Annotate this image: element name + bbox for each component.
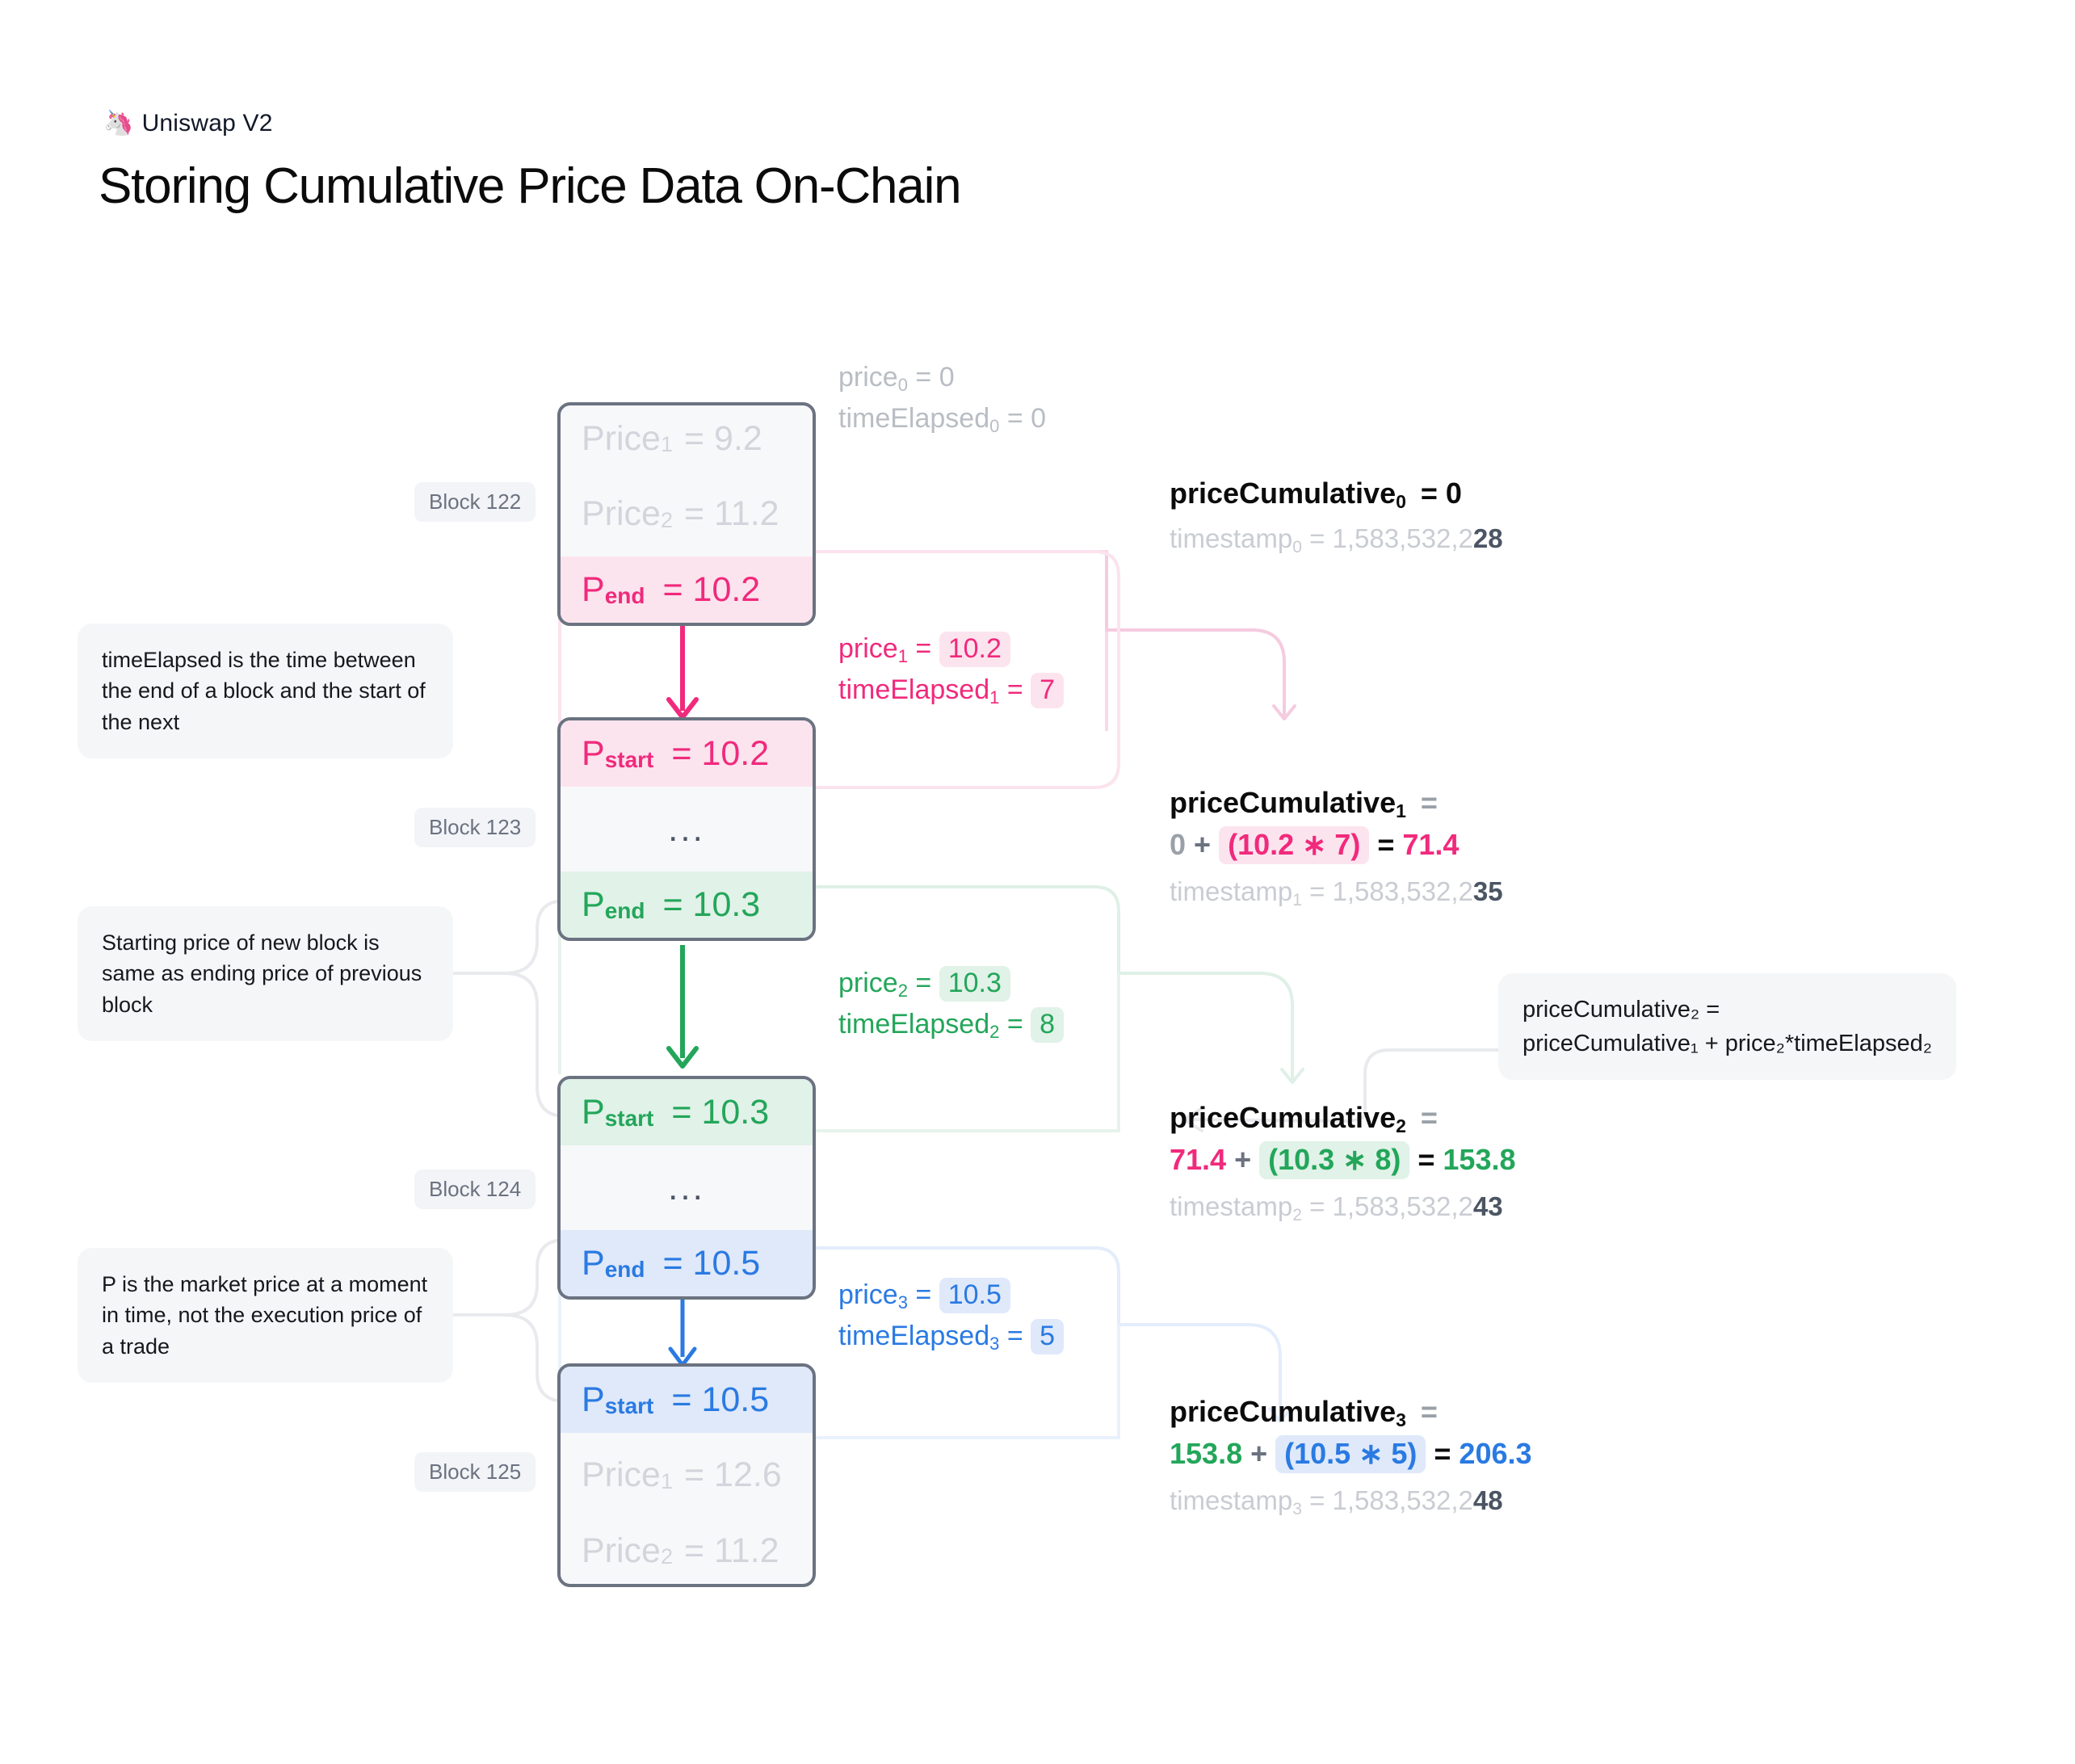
bracket-note3-top — [453, 1240, 565, 1315]
cum2-result: 153.8 — [1443, 1143, 1515, 1176]
block-row-p-start: Pstart = 10.2 — [561, 720, 813, 787]
interval-0: price0 = 0 timeElapsed0 = 0 — [838, 357, 1046, 439]
ellipsis-icon: ... — [668, 1181, 705, 1195]
block-row-p-end: Pend = 10.2 — [561, 556, 813, 623]
block-row: Price2 = 11.2 — [561, 481, 813, 548]
interval-2-time-value: 8 — [1031, 1007, 1064, 1043]
block-label-123: Block 123 — [414, 808, 536, 847]
block-row-p-start: Pstart = 10.5 — [561, 1367, 813, 1433]
interval-3-price-value: 10.5 — [939, 1278, 1010, 1313]
interval-2-price-value: 10.3 — [939, 966, 1010, 1002]
block-card-125[interactable]: Pstart = 10.5 Price1 = 12.6 Price2 = 11.… — [557, 1363, 816, 1587]
interval-1: price1 = 10.2 timeElapsed1 = 7 — [838, 628, 1064, 711]
block-row-p-end: Pend = 10.3 — [561, 871, 813, 938]
connector-layer — [0, 0, 2075, 1764]
diagram-canvas: 🦄 Uniswap V2 Storing Cumulative Price Da… — [0, 0, 2075, 1764]
block-row-p-end: Pend = 10.5 — [561, 1230, 813, 1296]
cum3-prev: 153.8 — [1170, 1437, 1242, 1470]
block-label-122: Block 122 — [414, 482, 536, 522]
bracket-note3-bottom — [453, 1315, 565, 1401]
cum2-prev: 71.4 — [1170, 1143, 1226, 1176]
cum2-expr: (10.3 ∗ 8) — [1259, 1141, 1409, 1179]
interval-1-price-value: 10.2 — [939, 632, 1010, 667]
block-label-125: Block 125 — [414, 1452, 536, 1492]
cum1-prev: 0 — [1170, 828, 1186, 861]
interval-3-time-value: 5 — [1031, 1319, 1064, 1354]
bracket-note2-bottom — [453, 973, 565, 1116]
note-market-price: P is the market price at a moment in tim… — [78, 1248, 453, 1383]
interval-3: price3 = 10.5 timeElapsed3 = 5 — [838, 1275, 1064, 1357]
cum1-expr: (10.2 ∗ 7) — [1219, 826, 1369, 864]
ellipsis-icon: ... — [668, 822, 705, 837]
formula-note-line2: priceCumulative₁ + price₂*timeElapsed₂ — [1523, 1027, 1932, 1060]
timestamp-2: timestamp2 = 1,583,532,243 — [1170, 1182, 1516, 1231]
interval-1-time-value: 7 — [1031, 673, 1064, 708]
block-row: Price2 = 11.2 — [561, 1518, 813, 1584]
block-row-ellipsis: ... — [561, 1155, 813, 1221]
block-row: Price1 = 12.6 — [561, 1443, 813, 1509]
cum3-expr: (10.5 ∗ 5) — [1275, 1435, 1426, 1473]
cumulative-3: priceCumulative3 = 153.8 + (10.5 ∗ 5) = … — [1170, 1391, 1532, 1525]
wire-pink-to-cum1 — [1107, 552, 1284, 719]
timestamp-0: timestamp0 = 1,583,532,228 — [1170, 514, 1503, 563]
cumulative-2: priceCumulative2 = 71.4 + (10.3 ∗ 8) = 1… — [1170, 1097, 1516, 1231]
block-row: Price1 = 9.2 — [561, 405, 813, 472]
note-time-elapsed: timeElapsed is the time between the end … — [78, 624, 453, 758]
block-row-ellipsis: ... — [561, 796, 813, 863]
block-row-p-start: Pstart = 10.3 — [561, 1079, 813, 1145]
cum1-result: 71.4 — [1402, 828, 1459, 861]
timestamp-3: timestamp3 = 1,583,532,248 — [1170, 1476, 1532, 1525]
cumulative-0: priceCumulative0 = 0 timestamp0 = 1,583,… — [1170, 472, 1503, 563]
cumulative-1: priceCumulative1 = 0 + (10.2 ∗ 7) = 71.4… — [1170, 782, 1503, 916]
cum3-result: 206.3 — [1459, 1437, 1531, 1470]
timestamp-1: timestamp1 = 1,583,532,235 — [1170, 867, 1503, 916]
block-label-124: Block 124 — [414, 1170, 536, 1209]
interval-2: price2 = 10.3 timeElapsed2 = 8 — [838, 963, 1064, 1045]
block-card-124[interactable]: Pstart = 10.3 ... Pend = 10.5 — [557, 1076, 816, 1300]
formula-note-line1: priceCumulative₂ = — [1523, 993, 1932, 1027]
block-card-123[interactable]: Pstart = 10.2 ... Pend = 10.3 — [557, 717, 816, 941]
block-card-122[interactable]: Price1 = 9.2 Price2 = 11.2 Pend = 10.2 — [557, 402, 816, 626]
bracket-note2-top — [453, 901, 565, 973]
note-starting-price: Starting price of new block is same as e… — [78, 906, 453, 1041]
formula-note: priceCumulative₂ = priceCumulative₁ + pr… — [1498, 973, 1956, 1080]
